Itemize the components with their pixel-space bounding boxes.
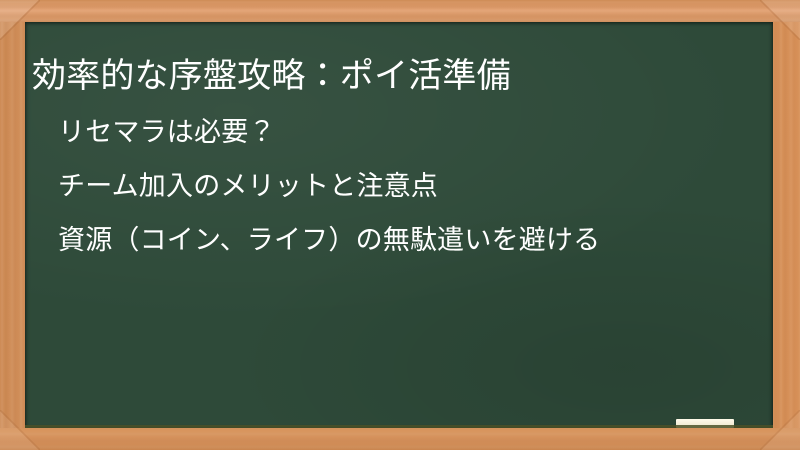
bullet-item: 資源（コイン、ライフ）の無駄遣いを避ける xyxy=(58,214,748,268)
blackboard-surface: 効率的な序盤攻略：ポイ活準備 リセマラは必要？ チーム加入のメリットと注意点 資… xyxy=(25,22,773,428)
bullet-item: リセマラは必要？ xyxy=(58,106,748,160)
bullet-list: リセマラは必要？ チーム加入のメリットと注意点 資源（コイン、ライフ）の無駄遣い… xyxy=(58,106,748,268)
board-bottom-seam xyxy=(25,425,773,428)
bullet-item: チーム加入のメリットと注意点 xyxy=(58,160,748,214)
wooden-frame-bottom-rail xyxy=(0,428,800,450)
blackboard-slide: 効率的な序盤攻略：ポイ活準備 リセマラは必要？ チーム加入のメリットと注意点 資… xyxy=(0,0,800,450)
wooden-frame-top-rail xyxy=(0,0,800,22)
slide-title: 効率的な序盤攻略：ポイ活準備 xyxy=(32,54,732,98)
